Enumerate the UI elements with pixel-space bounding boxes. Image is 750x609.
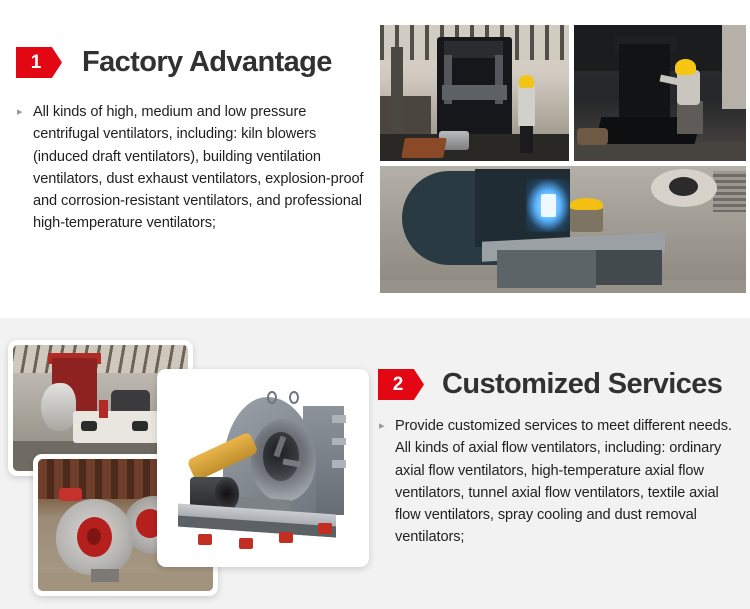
section-one-body-text: All kinds of high, medium and low pressu… [33, 101, 366, 235]
hydraulic-press-workshop-photo [380, 25, 569, 161]
section-two-text-column: 2 Customized Services ▸ Provide customiz… [378, 368, 733, 549]
section-one-title: Factory Advantage [82, 46, 332, 79]
radial-drill-machining-photo [574, 25, 746, 161]
bullet-triangle-icon: ▸ [378, 415, 395, 437]
section-one-bottom-row [380, 166, 746, 293]
bullet-triangle-icon: ▸ [16, 101, 33, 123]
step-badge-1: 1 [16, 47, 62, 78]
section-one-body-row: ▸ All kinds of high, medium and low pres… [16, 101, 366, 235]
product-feature-page: 1 Factory Advantage ▸ All kinds of high,… [0, 0, 750, 609]
welding-fan-housing-photo [380, 166, 746, 293]
section-one-top-row [380, 25, 746, 161]
section-one-image-grid [380, 25, 746, 293]
section-factory-advantage: 1 Factory Advantage ▸ All kinds of high,… [0, 0, 750, 318]
section-two-body-text: Provide customized services to meet diff… [395, 415, 733, 549]
centrifugal-fan-product-photo [157, 369, 369, 567]
section-two-heading: 2 Customized Services [378, 368, 733, 401]
section-one-text-column: 1 Factory Advantage ▸ All kinds of high,… [16, 46, 366, 235]
section-two-body-row: ▸ Provide customized services to meet di… [378, 415, 733, 549]
step-badge-2-number: 2 [393, 374, 404, 396]
section-one-heading: 1 Factory Advantage [16, 46, 366, 79]
step-badge-1-number: 1 [31, 52, 42, 74]
section-two-image-cluster [0, 336, 372, 598]
step-badge-2: 2 [378, 369, 424, 400]
section-two-title: Customized Services [442, 368, 722, 401]
